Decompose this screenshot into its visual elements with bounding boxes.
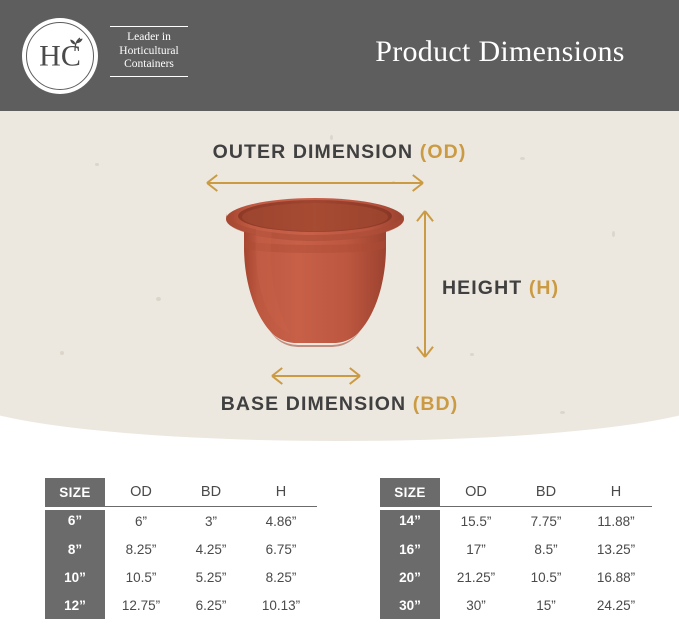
dimension-table-large-sizes: SIZE OD BD H 14” 15.5” 7.75” 11.88” 16” … [380, 478, 652, 619]
height-text: HEIGHT [442, 277, 522, 299]
cell-h: 24.25” [580, 591, 652, 619]
table-row: 12” 12.75” 6.25” 10.13” [45, 591, 317, 619]
outer-dimension-label: OUTER DIMENSION (OD) [0, 141, 679, 164]
arrow-head-bottom [419, 346, 431, 357]
table-row: 30” 30” 15” 24.25” [380, 591, 652, 619]
table-row: 16” 17” 8.5” 13.25” [380, 535, 652, 563]
cell-od: 17” [440, 535, 512, 563]
brand-logo: HC Leader in Horticultural Containers [22, 18, 187, 94]
cell-h: 13.25” [580, 535, 652, 563]
logo-monogram: HC [22, 42, 98, 72]
paper-speck [60, 351, 64, 355]
cell-od: 30” [440, 591, 512, 619]
dimension-table-small-sizes: SIZE OD BD H 6” 6” 3” 4.86” 8” 8.25” 4.2… [45, 478, 317, 619]
cell-h: 6.75” [245, 535, 317, 563]
table-row: 6” 6” 3” 4.86” [45, 507, 317, 536]
base-dimension-arrow [273, 370, 359, 382]
paper-speck [156, 297, 161, 301]
cell-bd: 5.25” [177, 563, 245, 591]
height-tag: (H) [529, 277, 559, 299]
tagline-rule-bottom [110, 76, 188, 77]
illustration-panel: OUTER DIMENSION (OD) [0, 111, 679, 441]
tagline-line-2: Horticultural [110, 45, 188, 59]
paper-speck [612, 231, 615, 237]
arrow-head-left [207, 177, 218, 189]
paper-speck [470, 353, 474, 356]
tagline-line-1: Leader in [110, 31, 188, 45]
table-row: 14” 15.5” 7.75” 11.88” [380, 507, 652, 536]
column-header-bd: BD [177, 478, 245, 507]
cell-size: 6” [45, 507, 105, 536]
column-header-bd: BD [512, 478, 580, 507]
column-header-h: H [580, 478, 652, 507]
cell-h: 8.25” [245, 563, 317, 591]
cell-od: 10.5” [105, 563, 177, 591]
table-row: 8” 8.25” 4.25” 6.75” [45, 535, 317, 563]
cell-od: 15.5” [440, 507, 512, 536]
cell-bd: 8.5” [512, 535, 580, 563]
arrow-head-top [419, 211, 431, 222]
cell-h: 11.88” [580, 507, 652, 536]
header-bar: HC Leader in Horticultural Containers Pr… [0, 0, 679, 111]
cell-size: 8” [45, 535, 105, 563]
arrow-shaft [208, 182, 422, 184]
cell-size: 10” [45, 563, 105, 591]
column-header-od: OD [105, 478, 177, 507]
outer-dimension-arrow [208, 177, 422, 189]
outer-dimension-tag: (OD) [420, 141, 467, 163]
page-title: Product Dimensions [340, 34, 660, 70]
table-row: 20” 21.25” 10.5” 16.88” [380, 563, 652, 591]
cell-od: 6” [105, 507, 177, 536]
cell-size: 30” [380, 591, 440, 619]
arrow-head-right [412, 177, 423, 189]
cell-size: 14” [380, 507, 440, 536]
table-header-row: SIZE OD BD H [380, 478, 652, 507]
logo-tagline: Leader in Horticultural Containers [110, 23, 188, 77]
base-dimension-text: BASE DIMENSION [221, 393, 407, 415]
arrow-shaft [424, 212, 426, 356]
cell-od: 8.25” [105, 535, 177, 563]
base-dimension-tag: (BD) [413, 393, 459, 415]
cell-size: 16” [380, 535, 440, 563]
cell-bd: 4.25” [177, 535, 245, 563]
column-header-size: SIZE [380, 478, 440, 507]
height-label: HEIGHT (H) [442, 277, 559, 300]
cell-size: 12” [45, 591, 105, 619]
cell-h: 10.13” [245, 591, 317, 619]
table-row: 10” 10.5” 5.25” 8.25” [45, 563, 317, 591]
paper-speck [330, 135, 333, 140]
cell-bd: 7.75” [512, 507, 580, 536]
column-header-h: H [245, 478, 317, 507]
column-header-od: OD [440, 478, 512, 507]
height-arrow [419, 212, 431, 356]
column-header-size: SIZE [45, 478, 105, 507]
arrow-shaft [273, 375, 359, 377]
cell-od: 12.75” [105, 591, 177, 619]
logo-circle-badge: HC [22, 18, 98, 94]
table-header-row: SIZE OD BD H [45, 478, 317, 507]
base-dimension-label: BASE DIMENSION (BD) [0, 393, 679, 416]
cell-bd: 6.25” [177, 591, 245, 619]
cell-od: 21.25” [440, 563, 512, 591]
arrow-head-right [349, 370, 360, 382]
arrow-head-left [272, 370, 283, 382]
outer-dimension-text: OUTER DIMENSION [213, 141, 414, 163]
tagline-rule-top [110, 26, 188, 27]
tagline-line-3: Containers [110, 58, 188, 72]
cell-h: 4.86” [245, 507, 317, 536]
flower-pot-illustration [224, 195, 406, 367]
cell-bd: 15” [512, 591, 580, 619]
cell-bd: 3” [177, 507, 245, 536]
cell-size: 20” [380, 563, 440, 591]
cell-bd: 10.5” [512, 563, 580, 591]
cell-h: 16.88” [580, 563, 652, 591]
